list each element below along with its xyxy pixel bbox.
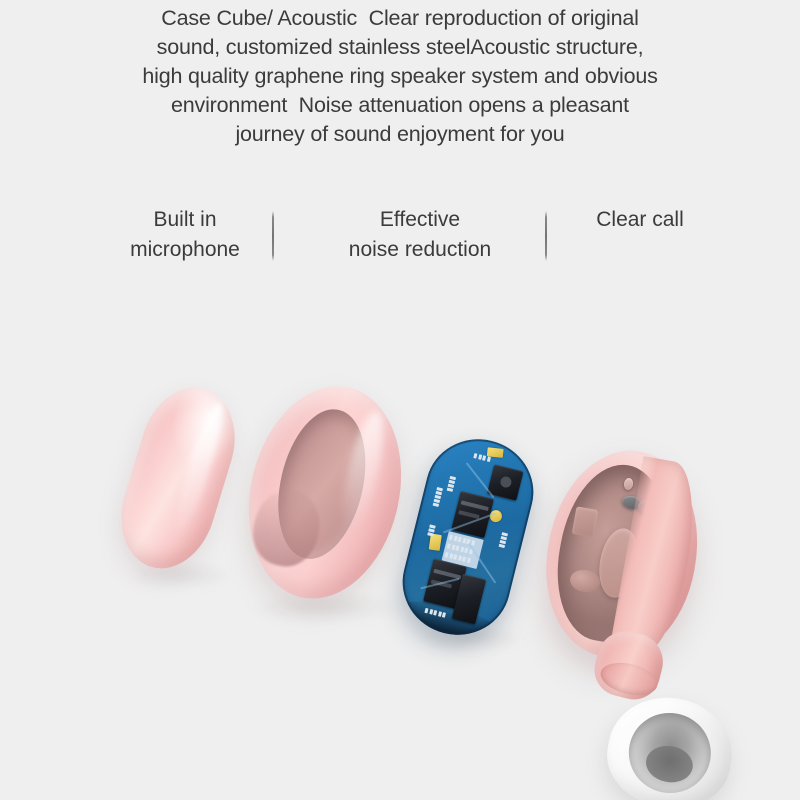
product-exploded-view	[0, 330, 800, 800]
feature-label-line-1: Built in	[90, 205, 280, 235]
headline-paragraph: Case Cube/ Acoustic Clear reproduction o…	[60, 4, 740, 149]
pcb-board-edge	[392, 428, 545, 646]
feature-divider-2	[545, 211, 547, 261]
feature-label-line-1: Clear call	[550, 205, 730, 235]
headline-line-2: sound, customized stainless steelAcousti…	[60, 33, 740, 62]
product-feature-page: Case Cube/ Acoustic Clear reproduction o…	[0, 0, 800, 800]
part-silicone-ear-tip	[600, 688, 741, 800]
headline-line-5: journey of sound enjoyment for you	[60, 120, 740, 149]
feature-divider-1	[272, 211, 274, 261]
lid-capsule-shadow	[126, 562, 234, 588]
headline-line-3: high quality graphene ring speaker syste…	[60, 62, 740, 91]
feature-clear-call: Clear call	[550, 205, 730, 235]
feature-label-line-2: microphone	[90, 235, 280, 265]
feature-label-line-2: noise reduction	[300, 235, 540, 265]
feature-highlight-row: Built in microphone Effective noise redu…	[60, 205, 740, 285]
part-housing-ring	[229, 371, 422, 614]
headline-line-4: environment Noise attenuation opens a pl…	[60, 91, 740, 120]
feature-built-in-microphone: Built in microphone	[90, 205, 280, 265]
part-circuit-board	[392, 428, 545, 646]
part-earbud-shell	[548, 450, 698, 700]
headline-line-1: Case Cube/ Acoustic Clear reproduction o…	[60, 4, 740, 33]
feature-effective-noise-reduction: Effective noise reduction	[300, 205, 540, 265]
part-lid-capsule	[107, 376, 249, 581]
feature-label-line-1: Effective	[300, 205, 540, 235]
